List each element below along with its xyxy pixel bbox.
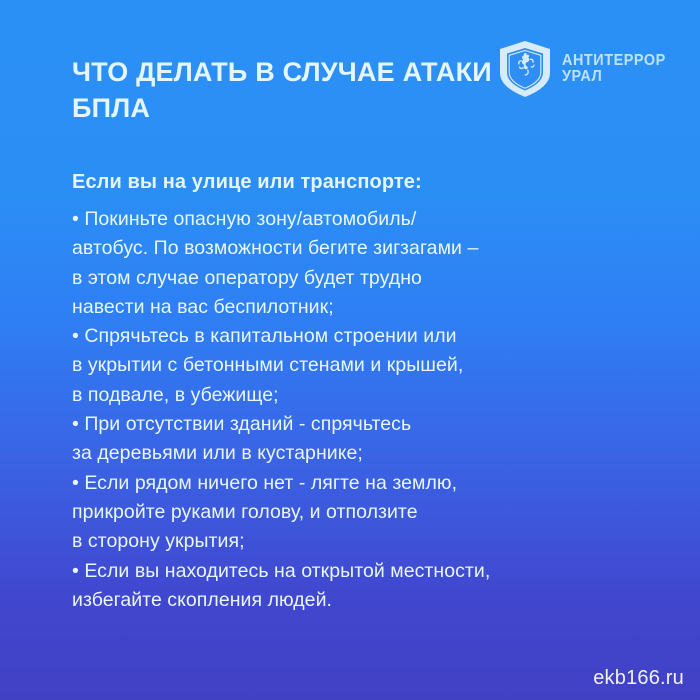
advice-item: • Покиньте опасную зону/автомобиль/ авто… <box>72 205 612 322</box>
brand-logo: АНТИТЕРРОР УРАЛ <box>498 40 674 98</box>
brand-wordmark: АНТИТЕРРОР УРАЛ <box>562 53 674 86</box>
source-watermark: ekb166.ru <box>593 667 684 690</box>
poster-canvas: АНТИТЕРРОР УРАЛ ЧТО ДЕЛАТЬ В СЛУЧАЕ АТАК… <box>0 0 700 700</box>
advice-item: • Спрячьтесь в капитальном строении или … <box>72 322 612 410</box>
brand-line-1: АНТИТЕРРОР <box>562 53 666 69</box>
brand-line-2: УРАЛ <box>562 69 666 85</box>
section-subtitle: Если вы на улице или транспорте: <box>72 168 612 197</box>
advice-content: Если вы на улице или транспорте: • Покин… <box>72 168 612 615</box>
advice-item: • При отсутствии зданий - спрячьтесь за … <box>72 410 612 469</box>
page-title: ЧТО ДЕЛАТЬ В СЛУЧАЕ АТАКИ БПЛА <box>72 55 502 127</box>
advice-item: • Если вы находитесь на открытой местнос… <box>72 557 612 616</box>
advice-item: • Если рядом ничего нет - лягте на землю… <box>72 469 612 557</box>
shield-lizard-icon <box>498 40 552 98</box>
